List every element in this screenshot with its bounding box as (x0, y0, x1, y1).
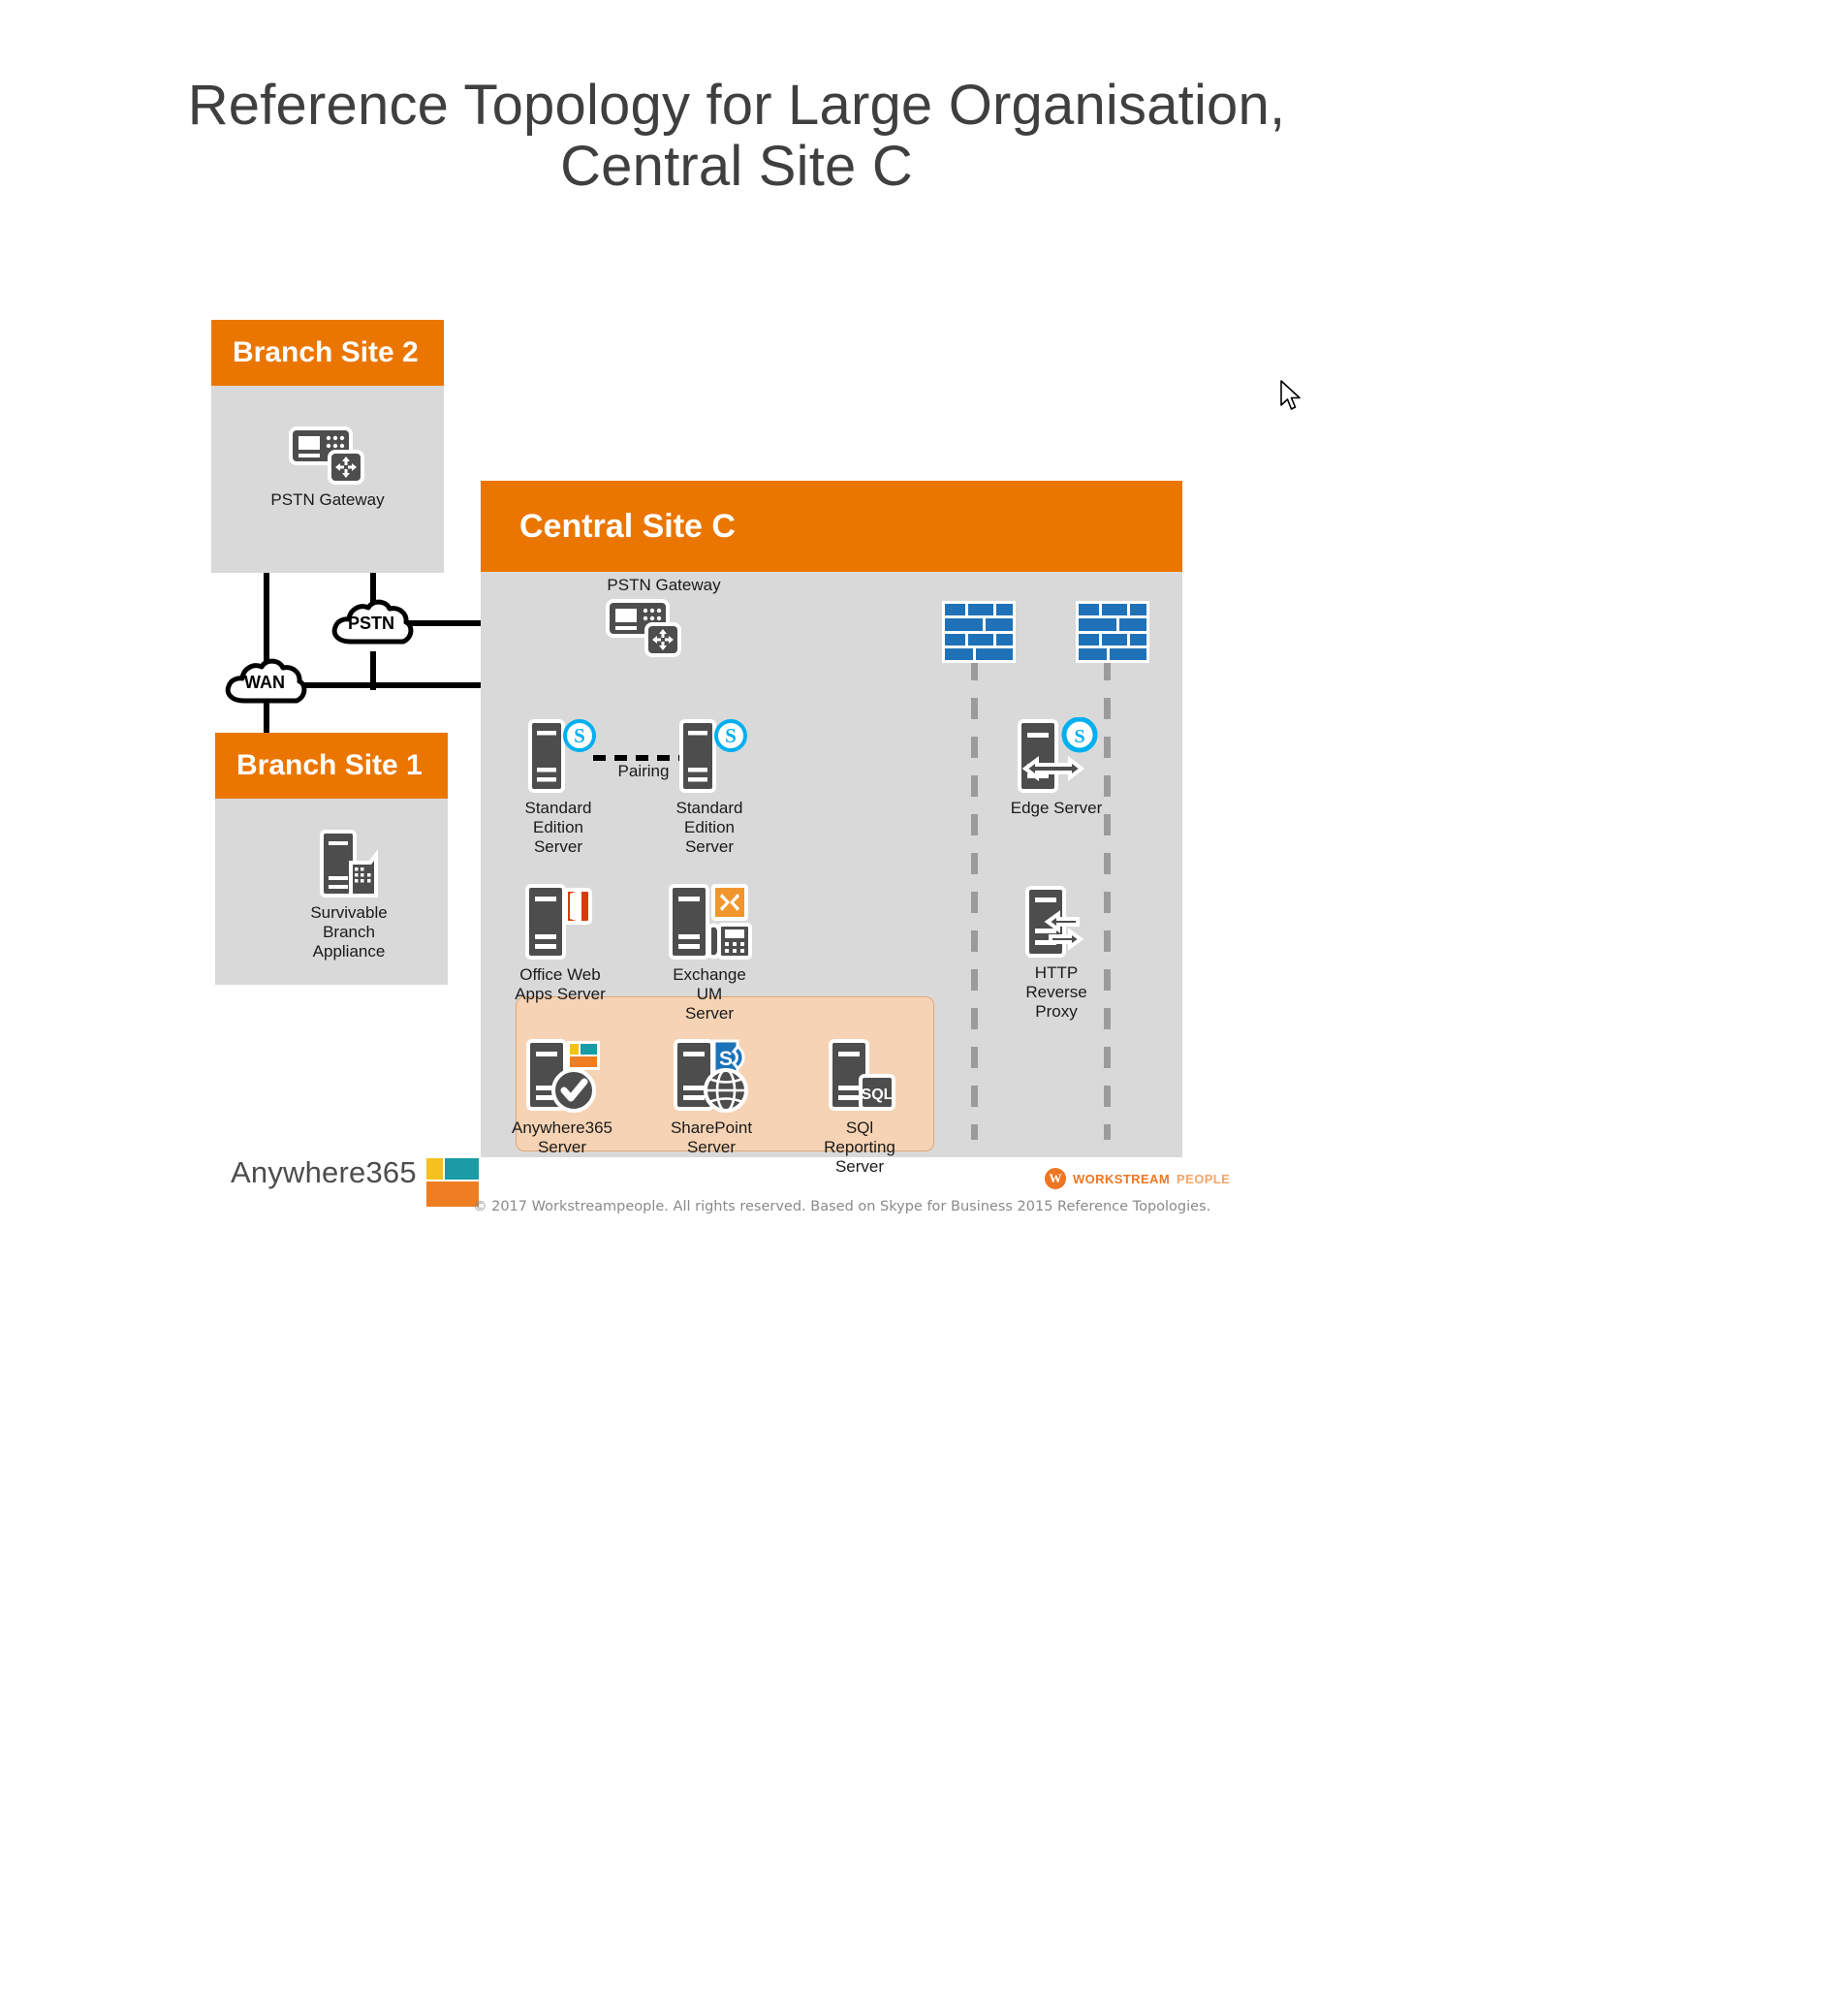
firewall-boundary-line-right (1104, 620, 1111, 1140)
page-title-line-1: Reference Topology for Large Organisatio… (174, 76, 1299, 137)
firewall-boundary-line-left (971, 620, 978, 1140)
node-label: Office Web Apps Server (515, 965, 606, 1004)
node-label: HTTP Reverse Proxy (1006, 963, 1107, 1022)
edge-server-icon: S (1012, 717, 1101, 795)
svg-text:S: S (719, 1048, 733, 1070)
wan-cloud-label: WAN (221, 653, 308, 711)
node-label: Survivable Branch Appliance (310, 903, 387, 961)
branch-site-2-header: Branch Site 2 (211, 320, 444, 386)
firewall-icon (1076, 601, 1149, 663)
wan-cloud: WAN (221, 653, 308, 711)
mouse-pointer-icon (1279, 380, 1304, 420)
node-branch2-pstn-gateway[interactable]: PSTN Gateway (269, 426, 386, 510)
node-standard-edition-server-1[interactable]: S Standard Edition Server (514, 717, 603, 857)
workstreampeople-logo: W WORKSTREAMPEOPLE (1045, 1168, 1230, 1189)
node-label: Standard Edition Server (665, 799, 754, 857)
node-label: PSTN Gateway (270, 490, 384, 510)
pstn-gateway-icon (289, 426, 366, 487)
central-gateway-label: PSTN Gateway (581, 576, 746, 595)
http-reverse-proxy-icon (1018, 884, 1095, 960)
branch-site-2-title: Branch Site 2 (233, 336, 419, 369)
node-label: Standard Edition Server (514, 799, 603, 857)
skype-server-icon: S (520, 717, 596, 795)
anywhere365-wordmark: Anywhere365 (231, 1155, 417, 1190)
anywhere365-logo-icon (426, 1158, 479, 1211)
node-label: Edge Server (1011, 799, 1103, 818)
survivable-branch-appliance-icon (314, 830, 384, 899)
central-site-header: Central Site C (481, 481, 1182, 572)
node-label: Anywhere365 Server (512, 1118, 612, 1157)
workstreampeople-word-2: PEOPLE (1177, 1172, 1230, 1186)
workstreampeople-word-1: WORKSTREAM (1073, 1172, 1170, 1186)
pstn-cloud-label: PSTN (328, 594, 415, 652)
node-sql-reporting-server[interactable]: SQL SQl Reporting Server (810, 1037, 909, 1177)
branch-site-1-title: Branch Site 1 (236, 749, 423, 782)
node-http-reverse-proxy[interactable]: HTTP Reverse Proxy (1006, 884, 1107, 1022)
svg-text:S: S (1074, 726, 1084, 747)
pstn-gateway-icon[interactable] (606, 599, 683, 659)
node-edge-server[interactable]: S Edge Server (1008, 717, 1105, 818)
copyright-text: © 2017 Workstreampeople. All rights rese… (473, 1199, 1210, 1214)
node-label: SQl Reporting Server (810, 1118, 909, 1177)
node-label: Exchange UM Server (661, 965, 758, 1024)
anywhere365-server-icon (520, 1037, 604, 1115)
svg-text:SQL: SQL (862, 1087, 894, 1103)
node-anywhere365-server[interactable]: Anywhere365 Server (514, 1037, 611, 1157)
central-site-title: Central Site C (519, 508, 736, 546)
pstn-cloud: PSTN (328, 594, 415, 652)
page-title: Reference Topology for Large Organisatio… (174, 76, 1299, 197)
node-sharepoint-server[interactable]: S SharePoint Server (664, 1037, 759, 1157)
sql-reporting-server-icon: SQL (821, 1037, 898, 1115)
page-title-line-2: Central Site C (174, 137, 1299, 198)
workstreampeople-mark-icon: W (1045, 1168, 1066, 1189)
office-server-icon (519, 882, 601, 961)
node-standard-edition-server-2[interactable]: S Standard Edition Server (665, 717, 754, 857)
firewall-icon (942, 601, 1016, 663)
sharepoint-server-icon: S (670, 1037, 753, 1115)
branch-site-1-header: Branch Site 1 (215, 733, 448, 799)
skype-badge-icon: S (714, 719, 747, 752)
exchange-um-server-icon (665, 882, 754, 961)
node-label: SharePoint Server (671, 1118, 752, 1157)
node-survivable-branch-appliance[interactable]: Survivable Branch Appliance (291, 830, 407, 961)
node-office-web-apps-server[interactable]: Office Web Apps Server (514, 882, 607, 1004)
skype-badge-icon: S (563, 719, 596, 752)
skype-server-icon: S (672, 717, 747, 795)
node-exchange-um-server[interactable]: Exchange UM Server (661, 882, 758, 1024)
